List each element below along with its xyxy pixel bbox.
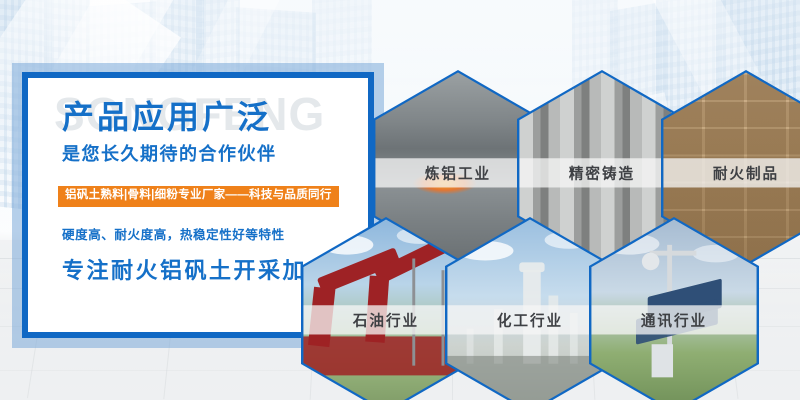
hex-cell-telecom-industry[interactable]: 通讯行业 — [589, 217, 759, 400]
building-shape — [656, 0, 726, 212]
headline-text-block: SONGFENG 产品应用广泛 是您长久期待的合作伙伴 铝矾土熟料|骨料|细粉专… — [40, 82, 370, 332]
hex-cell-chemical-industry[interactable]: 化工行业 — [445, 217, 615, 400]
hex-label: 化工行业 — [447, 305, 613, 334]
chemical-industry-photo — [447, 220, 613, 400]
hex-label: 炼铝工业 — [375, 158, 541, 187]
hex-cell-aluminium-smelting[interactable]: 炼铝工业 — [373, 70, 543, 266]
slogan-text: 专注耐火铝矾土开采加工 — [62, 260, 332, 282]
hex-label: 精密铸造 — [519, 158, 685, 187]
promotional-banner: SONGFENG 产品应用广泛 是您长久期待的合作伙伴 铝矾土熟料|骨料|细粉专… — [0, 0, 800, 400]
features-text: 硬度高、耐火度高，热稳定性好等特性 — [62, 229, 285, 242]
building-shape — [716, 0, 800, 238]
precision-casting-photo — [519, 73, 685, 264]
building-shape — [610, 1, 668, 187]
hex-label: 通讯行业 — [591, 305, 757, 334]
light-streak — [391, 92, 690, 268]
tagline-badge: 铝矾土熟料|骨料|细粉专业厂家——科技与品质同行 — [58, 186, 339, 207]
telecom-industry-photo — [591, 220, 757, 400]
refractory-products-photo — [663, 73, 800, 264]
light-streak — [643, 0, 800, 247]
hex-cell-precision-casting[interactable]: 精密铸造 — [517, 70, 687, 266]
aluminium-smelting-photo — [375, 73, 541, 264]
page-title: 产品应用广泛 — [62, 101, 272, 133]
hex-label: 耐火制品 — [663, 158, 800, 187]
building-shape — [572, 0, 618, 138]
hex-cell-refractory-products[interactable]: 耐火制品 — [661, 70, 800, 266]
subtitle: 是您长久期待的合作伙伴 — [62, 145, 277, 163]
